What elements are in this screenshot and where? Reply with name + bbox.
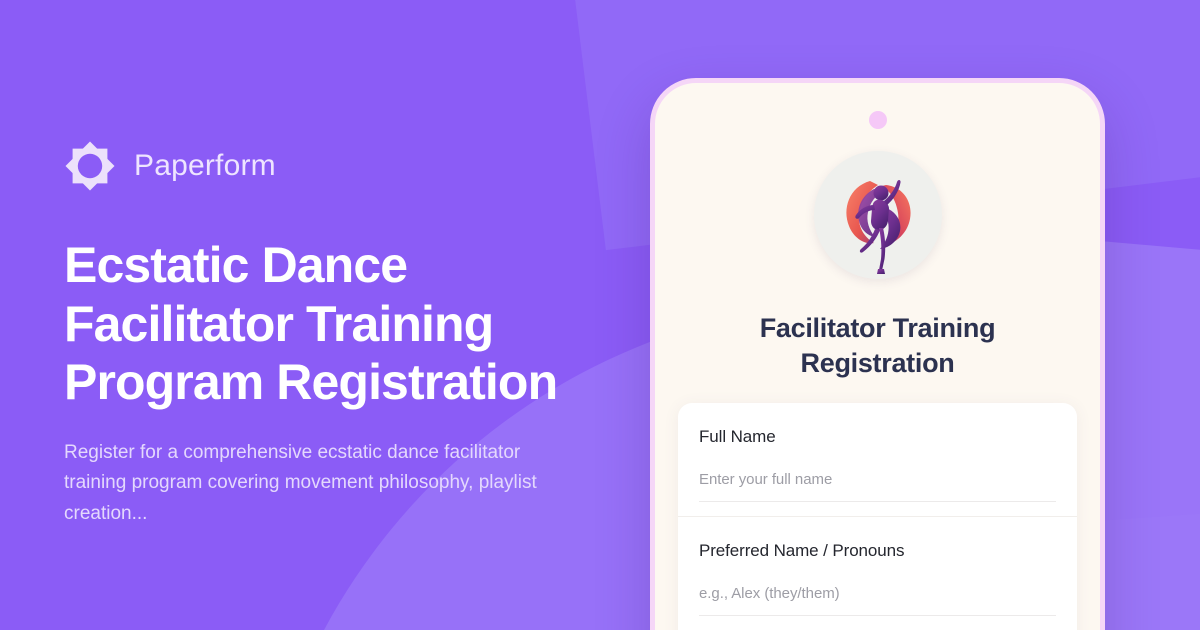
page-description: Register for a comprehensive ecstatic da… [64,438,549,530]
field-label: Full Name [699,427,1056,447]
full-name-input[interactable]: Enter your full name [699,471,1056,502]
dancer-logo-icon [814,151,942,279]
page-title: Ecstatic Dance Facilitator Training Prog… [64,236,604,412]
brand-lockup: Paperform [64,140,624,192]
phone-mockup: Facilitator Training Registration Full N… [650,78,1105,630]
preferred-name-input[interactable]: e.g., Alex (they/them) [699,585,1056,616]
form-field-full-name: Full Name Enter your full name [678,403,1077,516]
social-share-card: Paperform Ecstatic Dance Facilitator Tra… [0,0,1200,630]
camera-dot-icon [869,111,887,129]
form-card: Full Name Enter your full name Preferred… [678,403,1077,630]
form-field-preferred-name: Preferred Name / Pronouns e.g., Alex (th… [678,516,1077,630]
form-title: Facilitator Training Registration [689,311,1066,380]
field-label: Preferred Name / Pronouns [699,541,1056,561]
hero-text-column: Paperform Ecstatic Dance Facilitator Tra… [64,140,624,530]
brand-name: Paperform [134,151,276,181]
paperform-logo-icon [64,140,116,192]
